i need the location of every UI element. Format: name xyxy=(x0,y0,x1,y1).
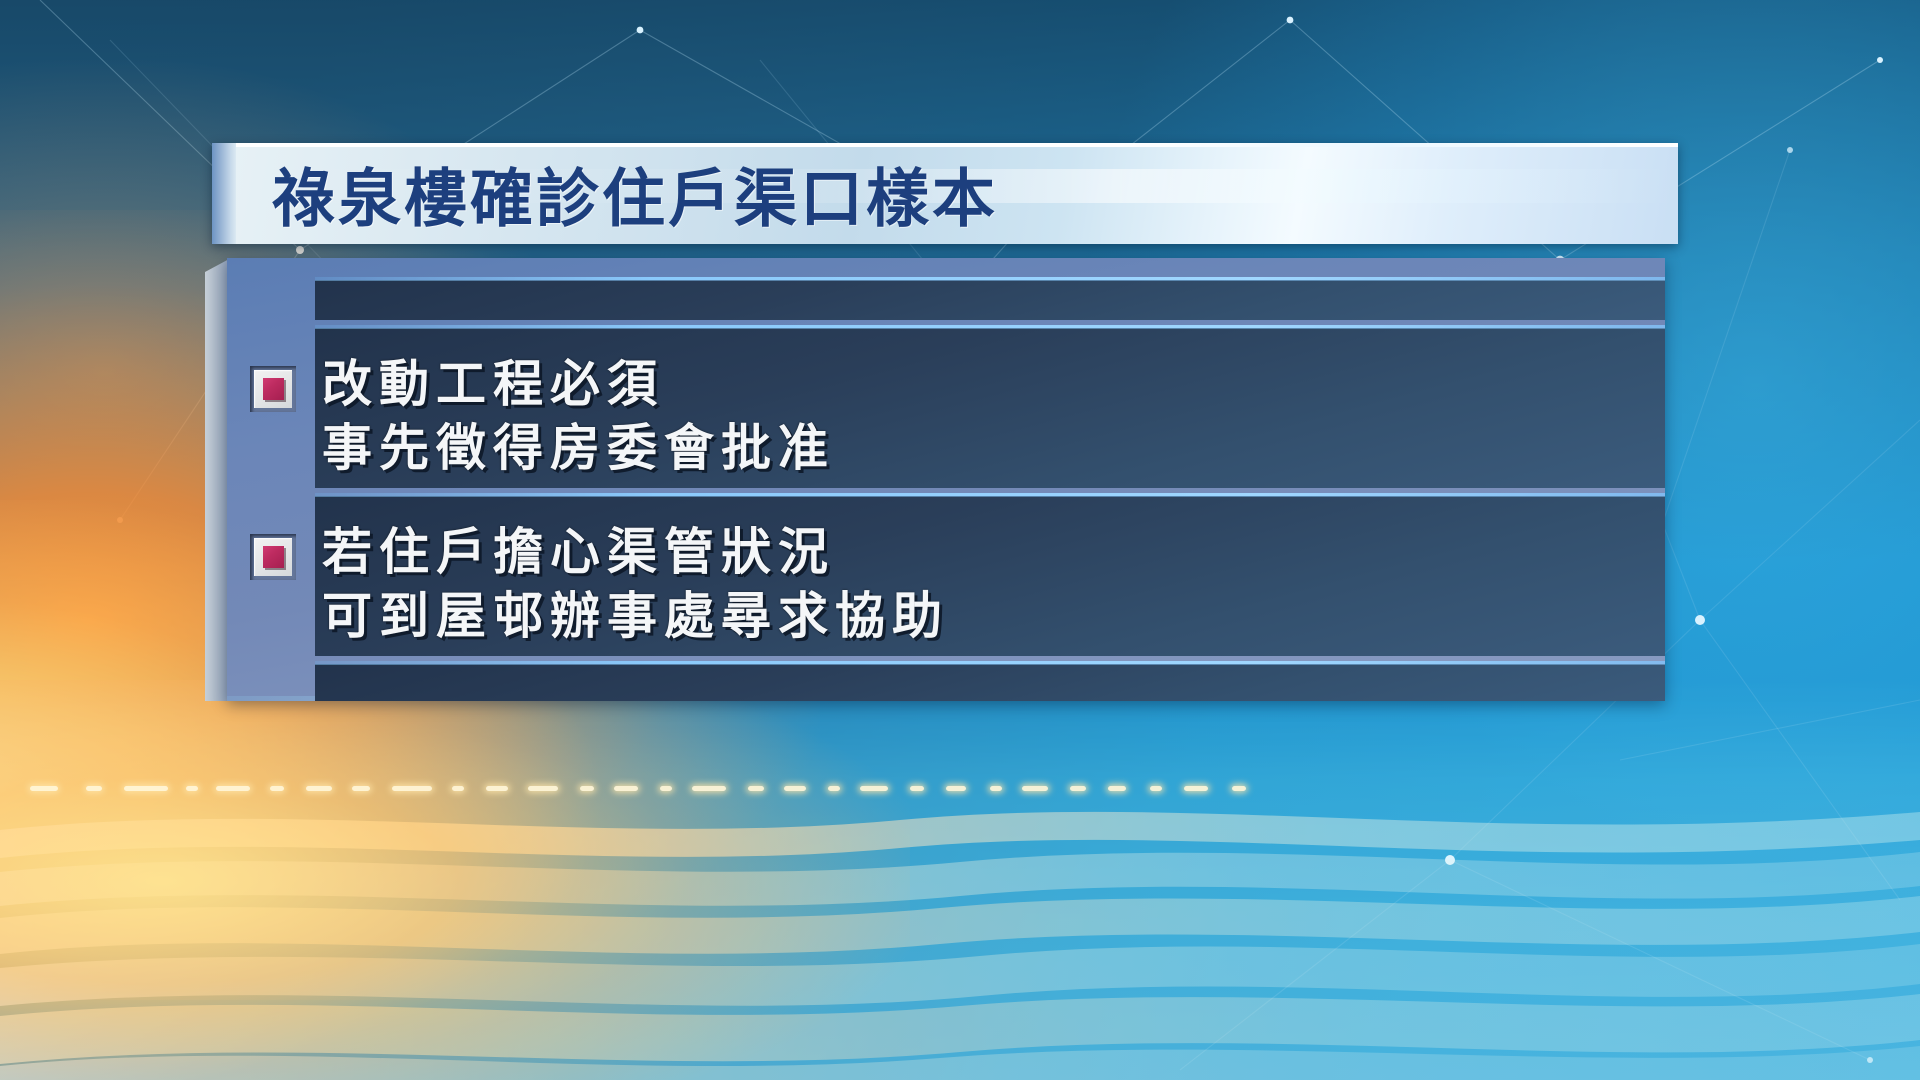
title-bar-highlight xyxy=(212,143,1678,147)
square-bullet-icon xyxy=(250,534,296,580)
bullet-frame xyxy=(254,370,292,408)
background-data-stream xyxy=(0,680,1920,1080)
bullet-text-1: 改動工程必須 事先徵得房委會批准 xyxy=(322,352,835,480)
bullet-1-line-1: 改動工程必須 xyxy=(322,352,835,416)
bullet-2-line-2: 可到屋邨辦事處尋求協助 xyxy=(322,584,949,648)
bullet-text-2: 若住戶擔心渠管狀況 可到屋邨辦事處尋求協助 xyxy=(322,520,949,648)
panel-bottom-strip xyxy=(315,664,1665,701)
panel-top-strip xyxy=(315,280,1665,320)
bullet-2-line-1: 若住戶擔心渠管狀況 xyxy=(322,520,949,584)
bullet-1-line-2: 事先徵得房委會批准 xyxy=(322,416,835,480)
background-light-dots xyxy=(0,786,1920,802)
bullet-frame xyxy=(254,538,292,576)
title-bar: 祿泉樓確診住戶渠口樣本 xyxy=(212,143,1678,244)
square-bullet-icon xyxy=(250,366,296,412)
bullet-chip xyxy=(263,546,284,568)
bullet-chip xyxy=(263,378,284,400)
content-panel: 改動工程必須 事先徵得房委會批准 若住戶擔心渠管狀況 可到屋邨辦事處尋求協助 xyxy=(205,258,1665,701)
page-title: 祿泉樓確診住戶渠口樣本 xyxy=(272,148,998,239)
